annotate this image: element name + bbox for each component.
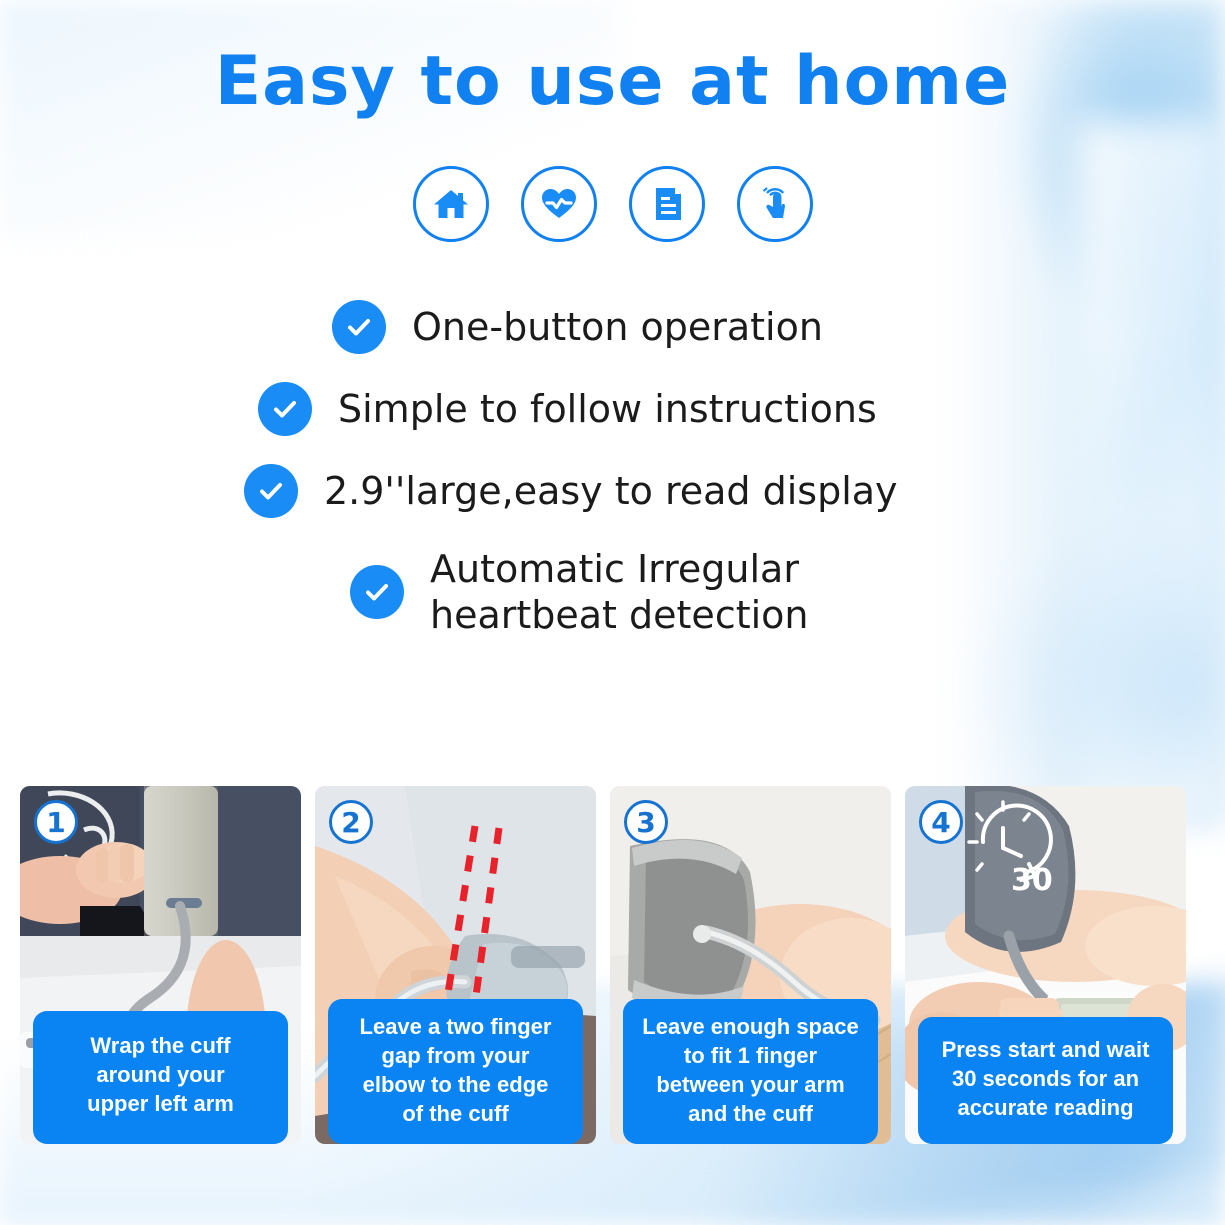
feature-label: Simple to follow instructions: [338, 386, 877, 432]
feature-label: Automatic Irregular heartbeat detection: [430, 546, 809, 639]
heart-pulse-icon: [521, 166, 597, 242]
step-card-list: 1 Wrap the cuff around your upper left a…: [20, 786, 1205, 1144]
check-icon: [258, 382, 312, 436]
step-number-badge: 1: [34, 800, 78, 844]
step-card-1: 1 Wrap the cuff around your upper left a…: [20, 786, 301, 1144]
touch-tap-icon: [737, 166, 813, 242]
step-number-badge: 2: [329, 800, 373, 844]
step-card-3: 3 Leave enough space to fit 1 finger bet…: [610, 786, 891, 1144]
step-number-badge: 3: [624, 800, 668, 844]
check-icon: [332, 300, 386, 354]
step-caption: Press start and wait 30 seconds for an a…: [918, 1017, 1173, 1144]
document-icon: [629, 166, 705, 242]
feature-icon-row: [0, 166, 1225, 242]
step-card-4: 30 4 Press start and wait 30 seconds for…: [905, 786, 1186, 1144]
feature-item-irregular-heartbeat: Automatic Irregular heartbeat detection: [0, 546, 1225, 639]
page-title: Easy to use at home: [0, 42, 1225, 121]
step-card-2: 2 Leave a two finger gap from your elbow…: [315, 786, 596, 1144]
step-caption: Wrap the cuff around your upper left arm: [33, 1011, 288, 1144]
check-icon: [244, 464, 298, 518]
feature-list: One-button operation Simple to follow in…: [0, 300, 1225, 667]
feature-label: One-button operation: [412, 304, 823, 350]
check-icon: [350, 565, 404, 619]
feature-item-simple-instructions: Simple to follow instructions: [0, 382, 1225, 436]
infographic-page: Easy to use at home: [0, 0, 1225, 1225]
feature-label: 2.9''large,easy to read display: [324, 468, 898, 514]
feature-item-large-display: 2.9''large,easy to read display: [0, 464, 1225, 518]
svg-text:30: 30: [1011, 863, 1053, 898]
feature-item-one-button: One-button operation: [0, 300, 1225, 354]
home-icon: [413, 166, 489, 242]
step-caption: Leave a two finger gap from your elbow t…: [328, 999, 583, 1144]
step-caption: Leave enough space to fit 1 finger betwe…: [623, 999, 878, 1144]
step-number-badge: 4: [919, 800, 963, 844]
